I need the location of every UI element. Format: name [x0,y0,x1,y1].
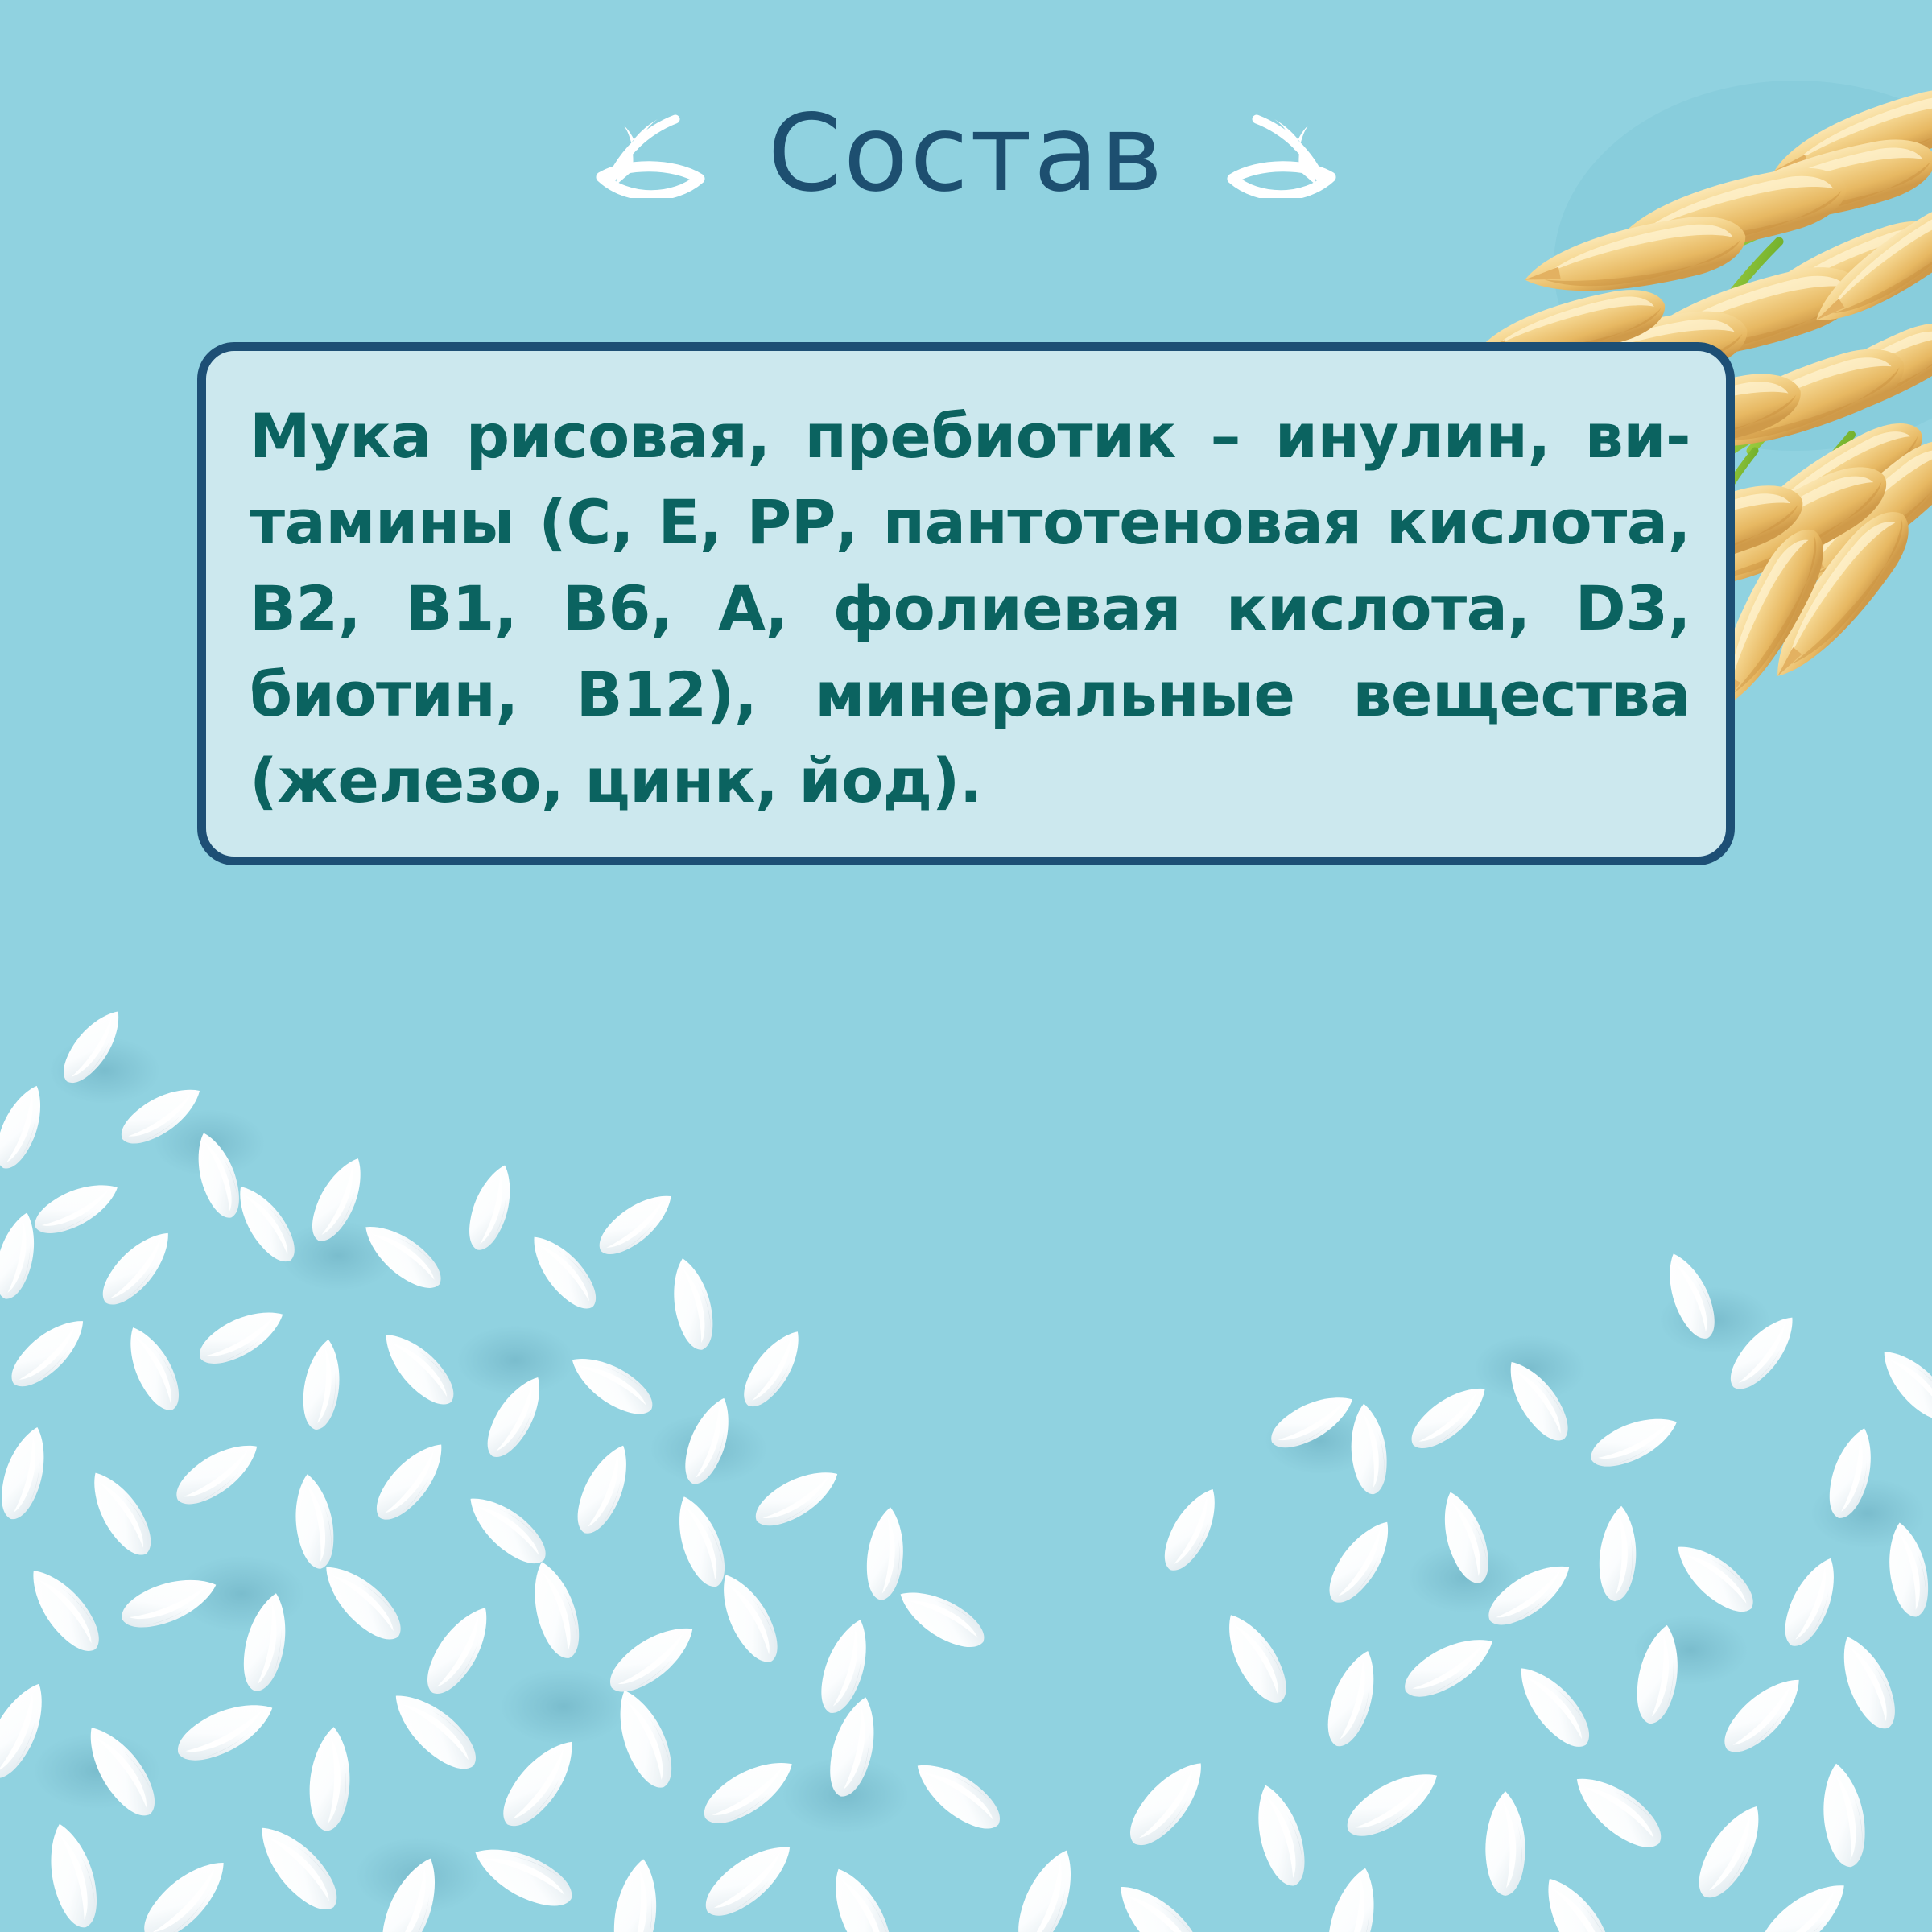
composition-word: биотин, [250,651,518,737]
composition-word: кислота, [1386,479,1690,565]
composition-word: фолиевая [833,565,1181,651]
composition-word: D3, [1575,565,1690,651]
composition-word: пантотеновая [883,479,1362,565]
composition-line: биотин,В12),минеральныевещества [250,651,1690,737]
composition-word: А, [718,565,788,651]
composition-line: Мукарисовая,пребиотик–инулин,ви- [250,393,1690,479]
composition-word: В1, [406,565,517,651]
rice-cluster-bottom-left [0,1001,1009,1932]
composition-word: кислота, [1226,565,1530,651]
composition-word: рисовая, [466,393,770,479]
composition-word: вещества [1352,651,1690,737]
composition-word: пребиотик [804,393,1175,479]
rice-cluster-bottom-right [1008,1247,1932,1932]
sprout-leaf-icon [593,109,714,198]
composition-word: В2, [250,565,361,651]
page-title: Состав [767,101,1164,207]
composition-line: (железо, цинк, йод). [250,737,1690,824]
oat-sprig-decoration [0,0,1932,1932]
composition-word: ви- [1585,393,1690,479]
composition-word: тамины [250,479,514,565]
composition-word: В12), [576,651,758,737]
composition-word: В6, [562,565,673,651]
composition-word: (С, [539,479,634,565]
composition-card: Мукарисовая,пребиотик–инулин,ви- тамины(… [197,342,1735,865]
composition-word: – [1211,393,1241,479]
composition-text: Мукарисовая,пребиотик–инулин,ви- тамины(… [250,393,1690,824]
composition-word: инулин, [1275,393,1550,479]
sprout-leaf-icon [1218,109,1339,198]
page-header: Состав [0,77,1932,230]
composition-word: Мука [250,393,431,479]
composition-word: Е, [658,479,722,565]
rice-grains-decoration [0,0,1932,1932]
composition-word: минеральные [815,651,1294,737]
composition-line: В2,В1,В6,А,фолиеваякислота,D3, [250,565,1690,651]
poster-canvas: Состав [0,0,1932,1932]
composition-word: РР, [747,479,859,565]
composition-line: тамины(С,Е,РР,пантотеноваякислота, [250,479,1690,565]
